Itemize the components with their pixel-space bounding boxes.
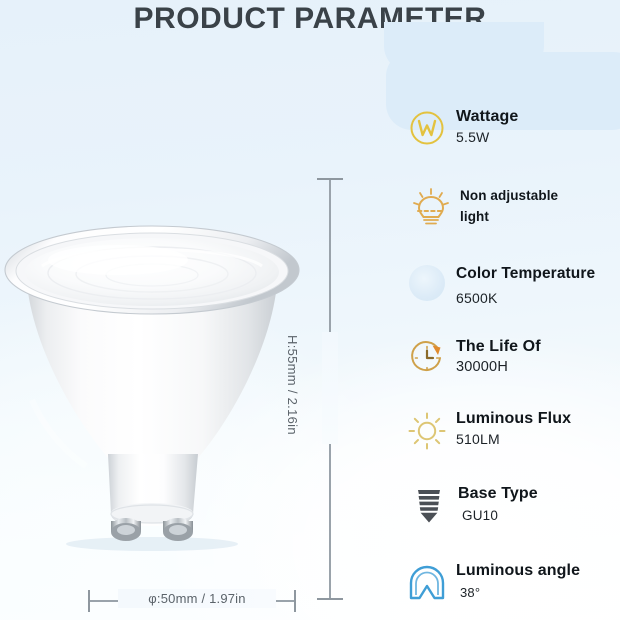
spec-label: Wattage <box>456 108 518 126</box>
spec-item-color-temperature: Color Temperature 6500K <box>404 265 595 306</box>
height-dimension-cap-top <box>317 178 343 180</box>
spec-label: Base Type <box>458 485 538 503</box>
spec-item-luminous-angle: Luminous angle 38° <box>404 562 580 604</box>
height-label-backdrop <box>322 332 338 444</box>
spec-text: Base Type GU10 <box>452 485 538 523</box>
spec-value: 5.5W <box>456 129 518 145</box>
spec-value: 38° <box>456 585 580 600</box>
beam-angle-arch-icon <box>404 562 450 604</box>
spec-label: The Life Of <box>456 338 541 356</box>
spec-item-wattage: Wattage 5.5W <box>404 108 518 148</box>
spec-label: Luminous angle <box>456 562 580 580</box>
spec-item-non-adjustable-light: Non adjustable light <box>408 186 580 230</box>
non-dimmable-bulb-icon <box>408 186 454 230</box>
spec-item-luminous-flux: Luminous Flux 510LM <box>404 410 571 452</box>
spec-value: 30000H <box>456 359 541 375</box>
spec-item-base-type: Base Type GU10 <box>406 485 538 525</box>
diameter-dimension-label: φ:50mm / 1.97in <box>118 589 276 608</box>
product-parameter-infographic: PRODUCT PARAMETER <box>0 0 620 620</box>
spec-label: Color Temperature <box>456 265 595 283</box>
lamp-base-screw-icon <box>406 485 452 525</box>
diameter-dimension-cap-left <box>88 590 90 612</box>
product-image-gu10-bulb <box>2 222 302 552</box>
height-dimension-cap-bottom <box>317 598 343 600</box>
spec-item-lifetime: The Life Of 30000H <box>404 338 541 378</box>
spec-text: Non adjustable light <box>454 186 580 228</box>
spec-value: GU10 <box>458 508 538 523</box>
spec-text: Color Temperature 6500K <box>450 265 595 306</box>
spec-text: Luminous Flux 510LM <box>450 410 571 447</box>
spec-label: Luminous Flux <box>456 410 571 428</box>
clock-lifetime-icon <box>404 338 450 378</box>
sun-luminous-flux-icon <box>404 410 450 452</box>
wattage-w-circle-icon <box>404 108 450 148</box>
spec-label: Non adjustable light <box>460 186 580 228</box>
spec-text: The Life Of 30000H <box>450 338 541 375</box>
spec-text: Wattage 5.5W <box>450 108 518 145</box>
spec-text: Luminous angle 38° <box>450 562 580 600</box>
color-temperature-dot-icon <box>404 265 450 301</box>
diameter-dimension-cap-right <box>294 590 296 612</box>
height-dimension-label: H:55mm / 2.16in <box>285 335 300 485</box>
spec-value: 6500K <box>456 290 595 306</box>
spec-value: 510LM <box>456 431 571 447</box>
